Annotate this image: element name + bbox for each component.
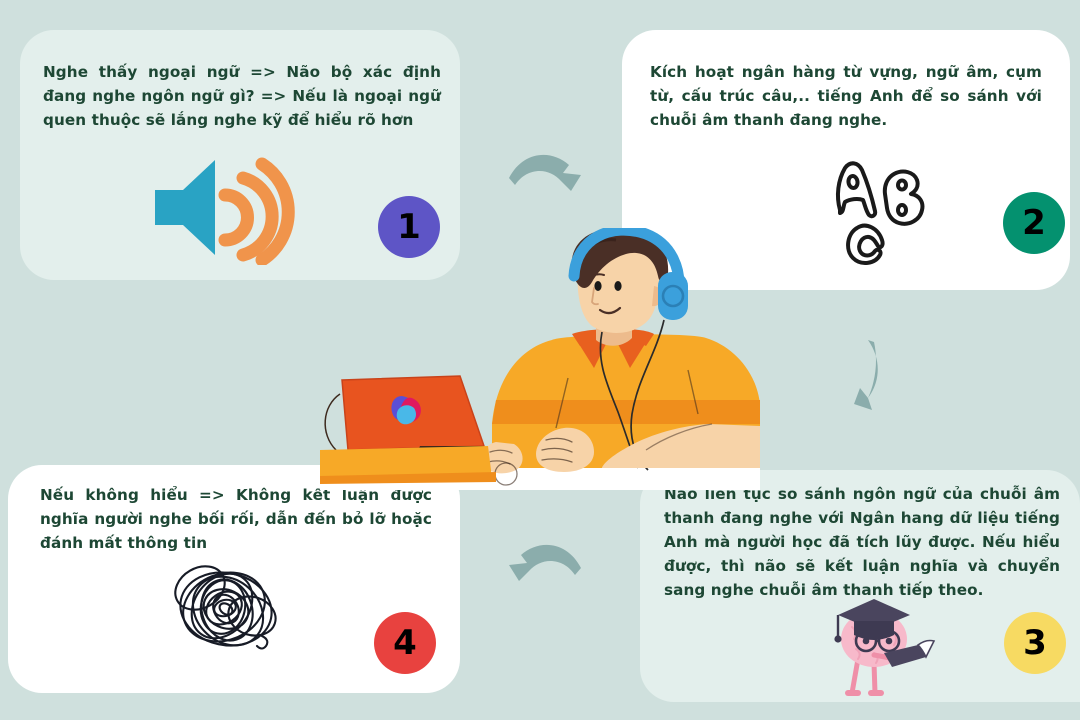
infographic-canvas: Nghe thấy ngoại ngữ => Não bộ xác định đ…: [0, 0, 1080, 720]
step-card-1-text: Nghe thấy ngoại ngữ => Não bộ xác định đ…: [43, 60, 441, 132]
confusion-scribble-icon: [152, 552, 302, 671]
arrow-card2-to-card3: [838, 338, 894, 418]
graduate-brain-icon: [822, 597, 957, 709]
arrow-card3-to-card4: [503, 535, 585, 597]
arrow-card1-to-card2: [505, 145, 587, 207]
step-badge-3: 3: [1004, 612, 1066, 674]
step-card-3-text: Não liên tục so sánh ngôn ngữ của chuỗi …: [664, 482, 1060, 602]
boy-with-headphones-at-tablet: [320, 228, 760, 494]
step-badge-2-number: 2: [1022, 206, 1046, 240]
step-card-2-text: Kích hoạt ngân hàng từ vựng, ngữ âm, cụm…: [650, 60, 1042, 132]
step-badge-3-number: 3: [1023, 626, 1047, 660]
step-badge-4: 4: [374, 612, 436, 674]
step-badge-2: 2: [1003, 192, 1065, 254]
abc-letters-icon: [822, 158, 942, 272]
step-badge-4-number: 4: [393, 626, 417, 660]
speaker-sound-icon: [145, 150, 295, 269]
